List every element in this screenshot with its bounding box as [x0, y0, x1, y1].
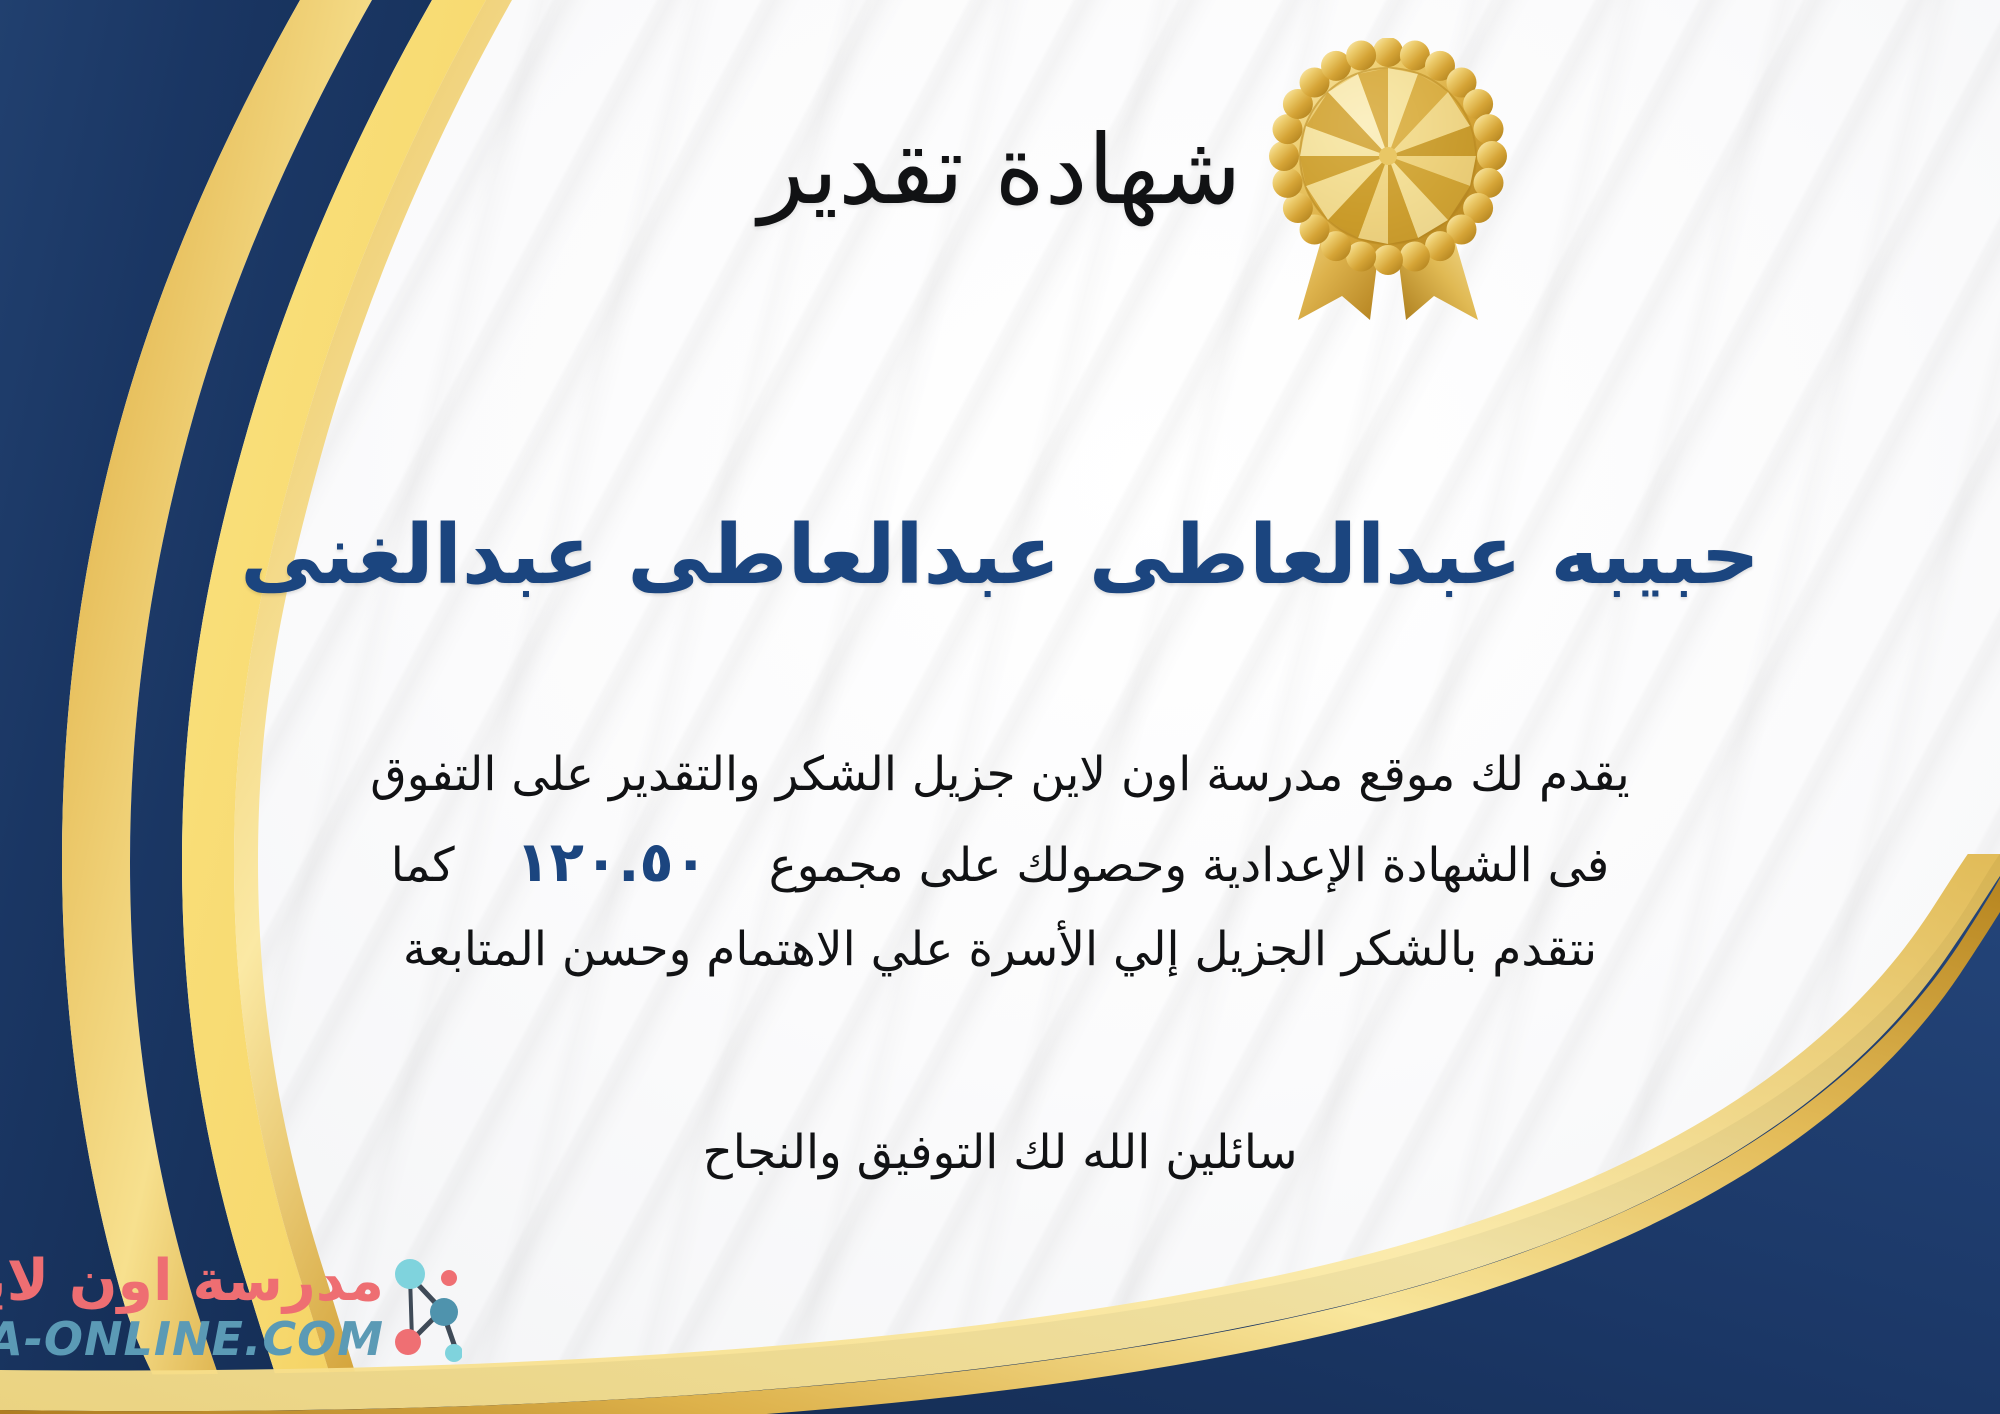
- body-line-3: نتقدم بالشكر الجزيل إلي الأسرة علي الاهت…: [55, 910, 1945, 990]
- brand-website: MADRSA-ONLINE.COM: [0, 1312, 384, 1366]
- network-nodes-icon: [386, 1254, 462, 1366]
- body-line-2-suffix: كما: [391, 838, 455, 893]
- certificate-canvas: شهادة تقدير حبيبه عبدالعاطى عبدالعاطى عب…: [0, 0, 2000, 1414]
- certificate-content: شهادة تقدير حبيبه عبدالعاطى عبدالعاطى عب…: [0, 0, 2000, 1414]
- body-line-2: فى الشهادة الإعدادية وحصولك على مجموع ١٢…: [55, 815, 1945, 910]
- brand-name-arabic: مدرسة اون لاين: [0, 1248, 384, 1314]
- total-score-value: ١٢٠.٥٠: [470, 830, 754, 895]
- brand-logo[interactable]: مدرسة اون لاين MADRSA-ONLINE.COM: [22, 1246, 462, 1386]
- recipient-name: حبيبه عبدالعاطى عبدالعاطى عبدالغنى: [0, 505, 2000, 608]
- certificate-body: يقدم لك موقع مدرسة اون لاين جزيل الشكر و…: [55, 735, 1945, 990]
- body-line-1: يقدم لك موقع مدرسة اون لاين جزيل الشكر و…: [55, 735, 1945, 815]
- body-line-2-prefix: فى الشهادة الإعدادية وحصولك على مجموع: [769, 838, 1610, 893]
- closing-wish: سائلين الله لك التوفيق والنجاح: [0, 1125, 2000, 1180]
- page-title: شهادة تقدير: [0, 120, 2000, 221]
